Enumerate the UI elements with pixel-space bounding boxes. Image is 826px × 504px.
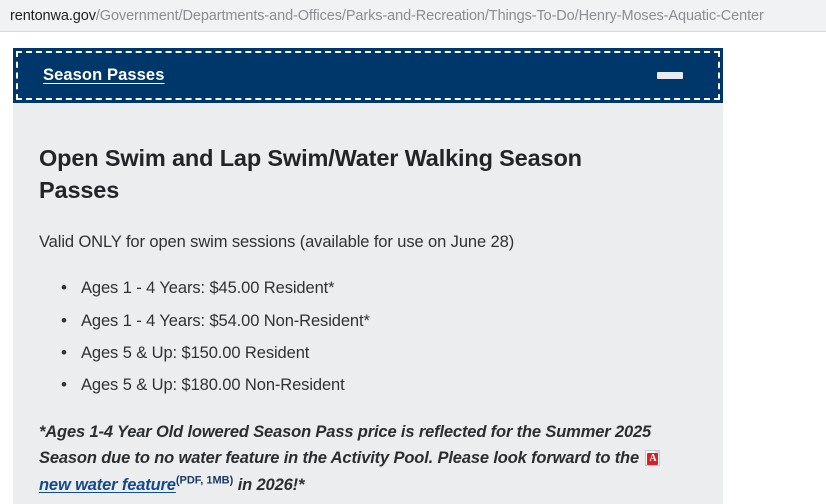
footnote-paragraph: *Ages 1-4 Year Old lowered Season Pass p… — [39, 419, 693, 499]
url-path: /Government/Departments-and-Offices/Park… — [96, 8, 764, 24]
url-domain: rentonwa.gov — [10, 8, 96, 24]
minus-icon[interactable] — [657, 72, 683, 79]
accordion-title: Season Passes — [43, 66, 164, 85]
list-item: Ages 5 & Up: $150.00 Resident — [81, 340, 693, 366]
footnote-text-after: in 2026!* — [233, 476, 304, 494]
list-item: Ages 1 - 4 Years: $54.00 Non-Resident* — [81, 308, 693, 334]
list-item: Ages 1 - 4 Years: $45.00 Resident* — [81, 275, 693, 301]
pdf-icon-letter: A — [647, 453, 658, 465]
season-passes-accordion-panel: Season Passes Open Swim and Lap Swim/Wat… — [13, 48, 723, 504]
intro-paragraph: Valid ONLY for open swim sessions (avail… — [39, 230, 693, 255]
page-top-gap — [0, 32, 826, 41]
list-item: Ages 5 & Up: $180.00 Non-Resident — [81, 372, 693, 398]
accordion-body: Open Swim and Lap Swim/Water Walking Sea… — [13, 103, 723, 499]
season-pass-price-list: Ages 1 - 4 Years: $45.00 Resident* Ages … — [39, 275, 693, 399]
browser-url-bar[interactable]: rentonwa.gov/Government/Departments-and-… — [0, 0, 826, 32]
url-text: rentonwa.gov/Government/Departments-and-… — [10, 8, 764, 24]
page-title: Open Swim and Lap Swim/Water Walking Sea… — [39, 143, 659, 206]
new-water-feature-link[interactable]: new water feature — [39, 476, 176, 494]
pdf-file-meta: (PDF, 1MB) — [176, 475, 233, 487]
pdf-file-icon: A — [645, 450, 660, 466]
footnote-text-before: *Ages 1-4 Year Old lowered Season Pass p… — [39, 423, 651, 468]
accordion-header-season-passes[interactable]: Season Passes — [13, 48, 723, 103]
